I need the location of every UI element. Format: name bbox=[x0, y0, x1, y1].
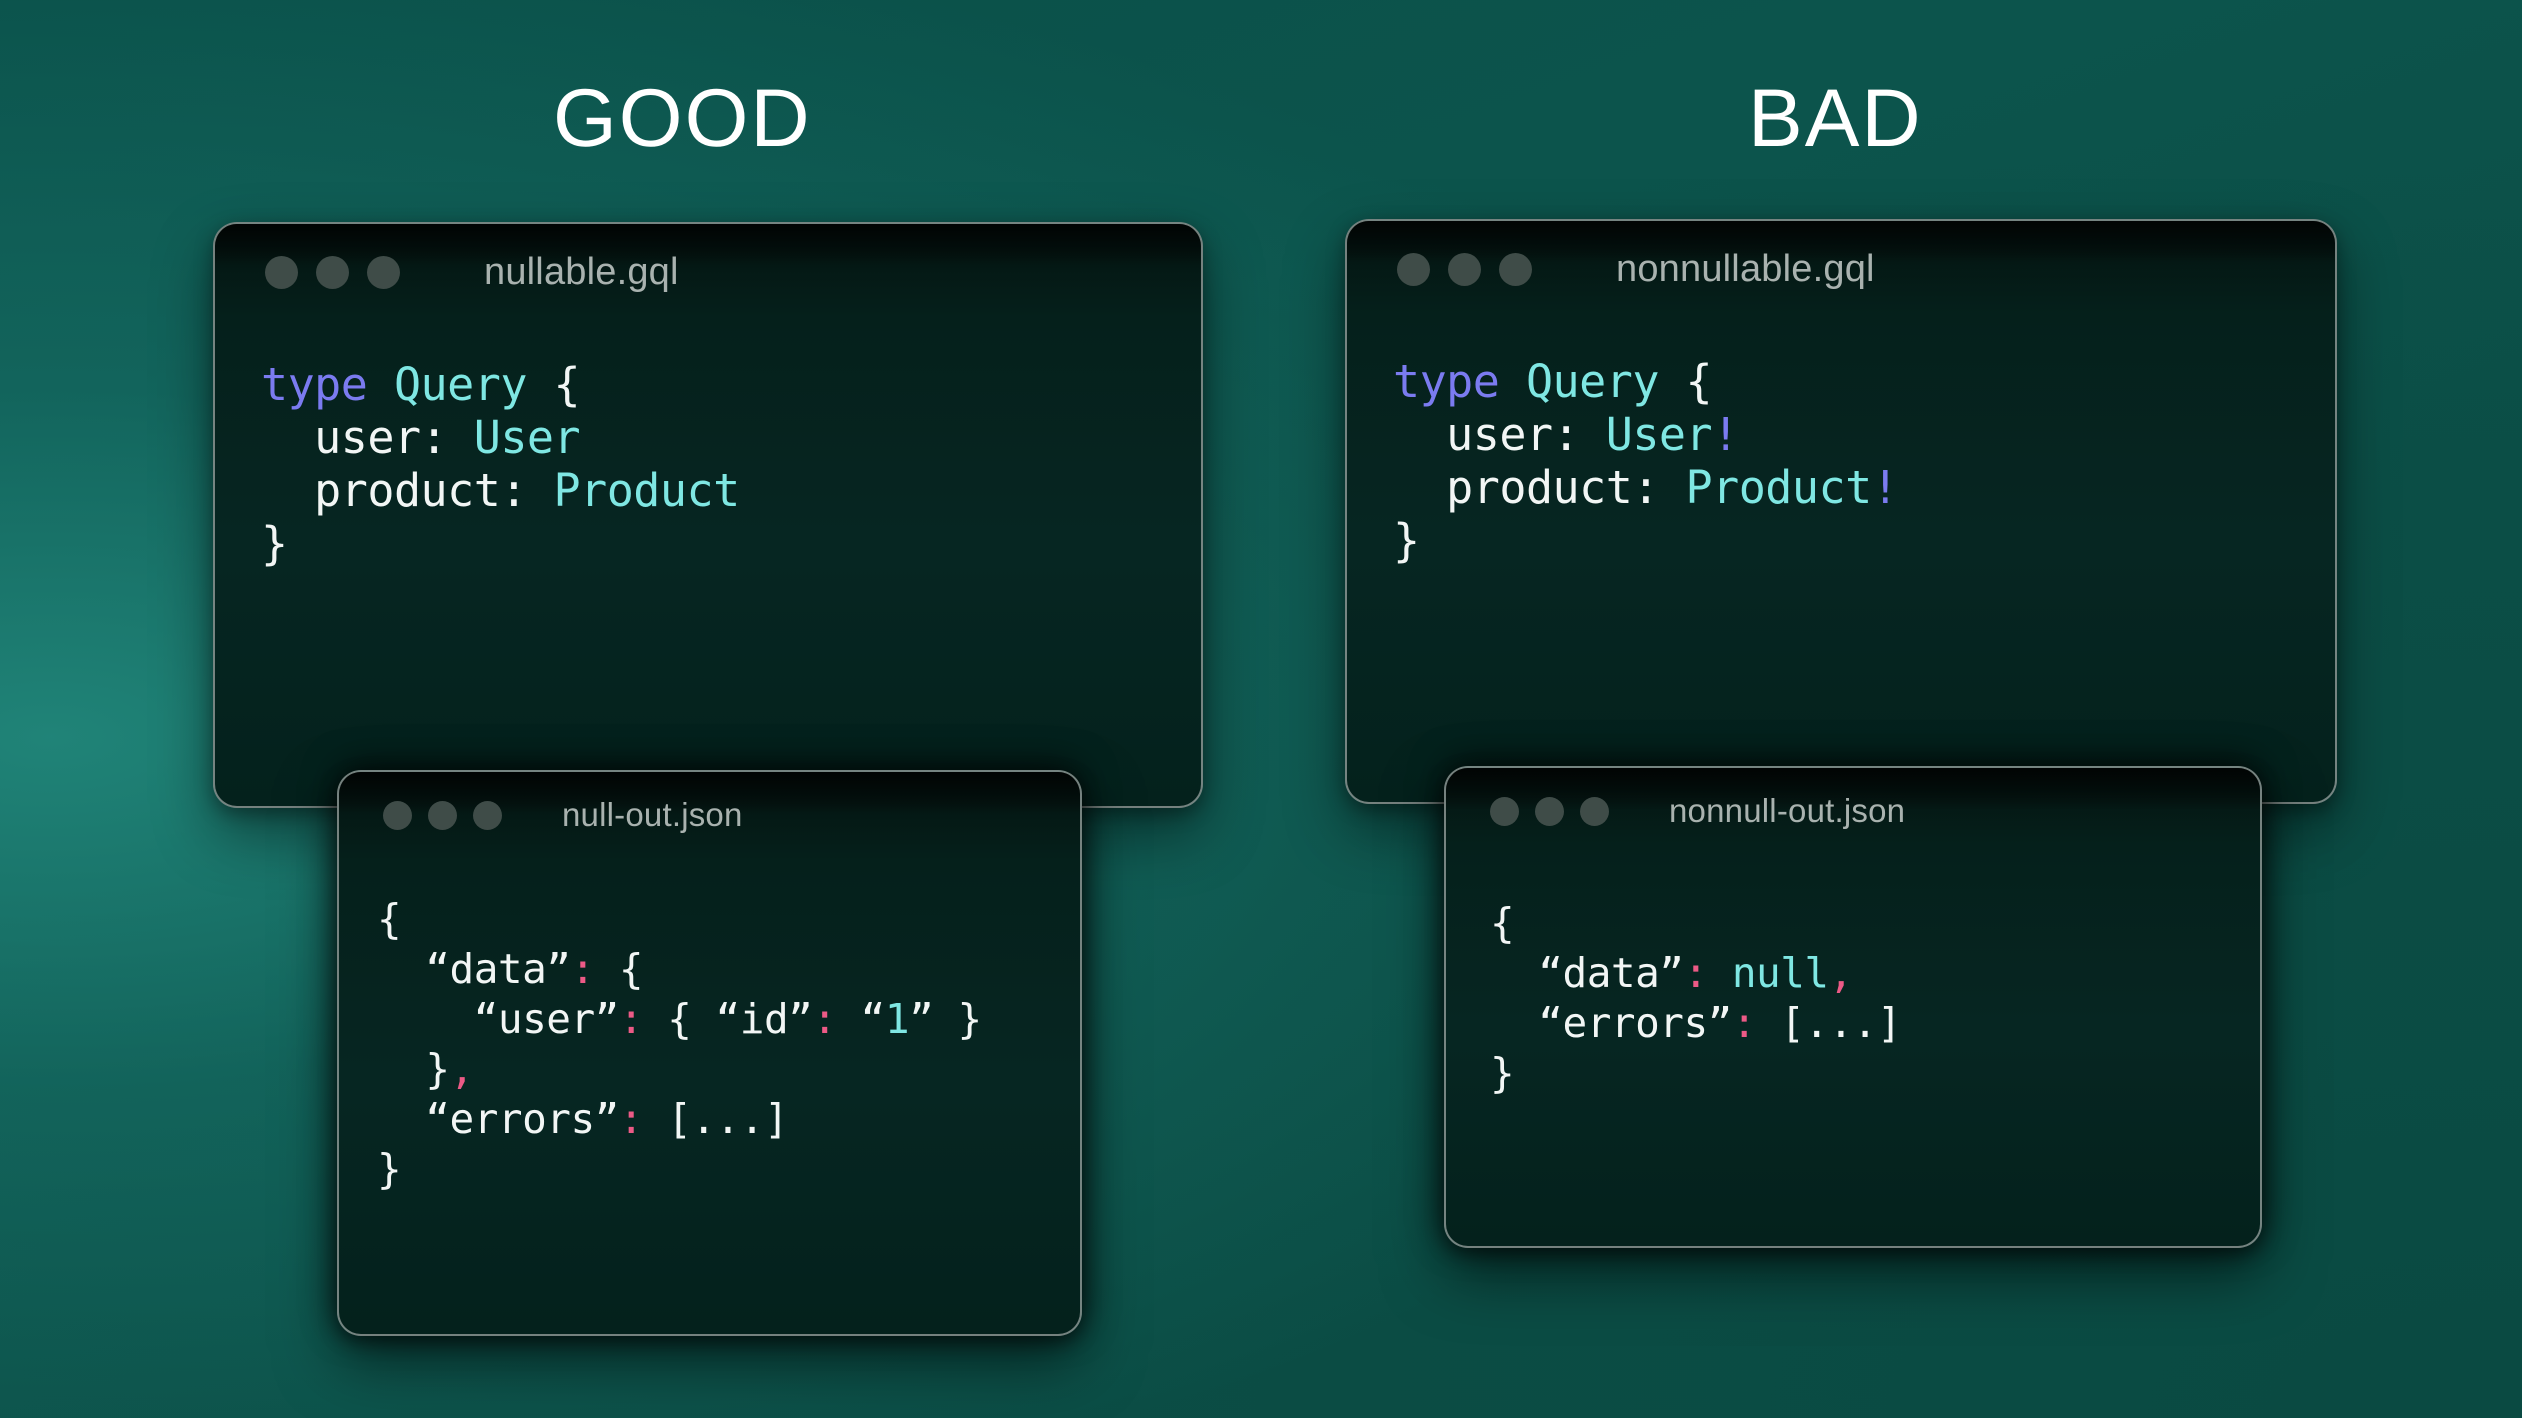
code-window-null-out-json[interactable]: null-out.json { “data”: { “user”: { “id”… bbox=[337, 770, 1082, 1336]
code-window-nullable-gql[interactable]: nullable.gql type Query { user: User pro… bbox=[213, 222, 1203, 808]
traffic-dot-maximize-icon[interactable] bbox=[367, 256, 400, 289]
window-filename: null-out.json bbox=[562, 796, 743, 834]
traffic-dot-minimize-icon[interactable] bbox=[1448, 253, 1481, 286]
code-token: } bbox=[261, 517, 288, 570]
code-token: { bbox=[1686, 355, 1713, 408]
code-token: ! bbox=[1712, 408, 1739, 461]
code-token: } bbox=[1393, 514, 1420, 567]
code-token: Query bbox=[1526, 355, 1659, 408]
code-token: , bbox=[1829, 949, 1853, 997]
code-token: : bbox=[570, 945, 594, 993]
code-token: : bbox=[1632, 461, 1685, 514]
code-line: } bbox=[377, 1144, 1080, 1194]
code-token: } bbox=[1490, 1049, 1514, 1097]
code-token bbox=[1708, 949, 1732, 997]
traffic-lights bbox=[265, 256, 400, 289]
code-token bbox=[1659, 355, 1686, 408]
traffic-dot-minimize-icon[interactable] bbox=[428, 801, 457, 830]
window-titlebar: nullable.gql bbox=[215, 224, 1201, 320]
code-token: 1 bbox=[885, 995, 909, 1043]
code-token: type bbox=[1393, 355, 1499, 408]
code-content: { “data”: null, “errors”: [...]} bbox=[1446, 854, 2260, 1098]
code-token: } bbox=[377, 1145, 401, 1193]
code-line: { bbox=[1490, 898, 2260, 948]
code-line: product: Product! bbox=[1393, 461, 2335, 514]
code-token: “user” bbox=[377, 995, 619, 1043]
code-token: product bbox=[1393, 461, 1632, 514]
code-token: Product bbox=[554, 464, 740, 517]
code-token: product bbox=[261, 464, 500, 517]
traffic-dot-close-icon[interactable] bbox=[1397, 253, 1430, 286]
traffic-lights bbox=[383, 801, 502, 830]
traffic-dot-close-icon[interactable] bbox=[383, 801, 412, 830]
code-token: , bbox=[450, 1045, 474, 1093]
code-token: : bbox=[1732, 999, 1756, 1047]
window-titlebar: nonnull-out.json bbox=[1446, 768, 2260, 854]
code-line: type Query { bbox=[1393, 355, 2335, 408]
code-token: ” } bbox=[909, 995, 982, 1043]
code-window-nonnullable-gql[interactable]: nonnullable.gql type Query { user: User!… bbox=[1345, 219, 2337, 804]
window-filename: nonnullable.gql bbox=[1616, 248, 1875, 291]
window-titlebar: null-out.json bbox=[339, 772, 1080, 858]
slide-canvas: GOOD BAD nullable.gql type Query { user:… bbox=[0, 0, 2522, 1418]
code-token: : bbox=[812, 995, 836, 1043]
code-token: “data” bbox=[377, 945, 570, 993]
code-token bbox=[367, 358, 394, 411]
traffic-lights bbox=[1490, 797, 1609, 826]
code-token: “errors” bbox=[377, 1095, 619, 1143]
code-token: ! bbox=[1872, 461, 1899, 514]
code-token: [...] bbox=[643, 1095, 788, 1143]
code-token: } bbox=[377, 1045, 450, 1093]
traffic-lights bbox=[1397, 253, 1532, 286]
code-token: : bbox=[1553, 408, 1606, 461]
code-token: user bbox=[261, 411, 421, 464]
code-token: [...] bbox=[1756, 999, 1901, 1047]
code-line: }, bbox=[377, 1044, 1080, 1094]
code-token: “ bbox=[837, 995, 885, 1043]
traffic-dot-close-icon[interactable] bbox=[265, 256, 298, 289]
code-line: } bbox=[1490, 1048, 2260, 1098]
code-token: : bbox=[619, 1095, 643, 1143]
code-content: type Query { user: User! product: Produc… bbox=[1347, 317, 2335, 567]
window-titlebar: nonnullable.gql bbox=[1347, 221, 2335, 317]
code-token: type bbox=[261, 358, 367, 411]
code-token: { bbox=[554, 358, 581, 411]
code-token: : bbox=[619, 995, 643, 1043]
code-line: user: User! bbox=[1393, 408, 2335, 461]
traffic-dot-maximize-icon[interactable] bbox=[1580, 797, 1609, 826]
code-token: null bbox=[1732, 949, 1829, 997]
window-filename: nullable.gql bbox=[484, 251, 679, 294]
code-token: User bbox=[474, 411, 580, 464]
code-line: { bbox=[377, 894, 1080, 944]
code-token: user bbox=[1393, 408, 1553, 461]
code-token: Query bbox=[394, 358, 527, 411]
code-token: “errors” bbox=[1490, 999, 1732, 1047]
code-token: “data” bbox=[1490, 949, 1683, 997]
code-token bbox=[1499, 355, 1526, 408]
code-line: type Query { bbox=[261, 358, 1201, 411]
section-title-bad: BAD bbox=[1748, 78, 1923, 160]
code-token: : bbox=[421, 411, 474, 464]
code-line: } bbox=[261, 517, 1201, 570]
code-token: { bbox=[377, 895, 401, 943]
code-line: “user”: { “id”: “1” } bbox=[377, 994, 1080, 1044]
code-token: { bbox=[643, 995, 716, 1043]
traffic-dot-minimize-icon[interactable] bbox=[1535, 797, 1564, 826]
code-window-nonnull-out-json[interactable]: nonnull-out.json { “data”: null, “errors… bbox=[1444, 766, 2262, 1248]
code-line: product: Product bbox=[261, 464, 1201, 517]
code-line: user: User bbox=[261, 411, 1201, 464]
code-line: “errors”: [...] bbox=[1490, 998, 2260, 1048]
code-line: “data”: { bbox=[377, 944, 1080, 994]
code-line: “data”: null, bbox=[1490, 948, 2260, 998]
traffic-dot-minimize-icon[interactable] bbox=[316, 256, 349, 289]
code-token: { bbox=[595, 945, 643, 993]
code-token: “id” bbox=[716, 995, 813, 1043]
code-token bbox=[527, 358, 554, 411]
code-token: { bbox=[1490, 899, 1514, 947]
code-line: } bbox=[1393, 514, 2335, 567]
code-line: “errors”: [...] bbox=[377, 1094, 1080, 1144]
section-title-good: GOOD bbox=[553, 78, 812, 160]
code-token: : bbox=[500, 464, 553, 517]
traffic-dot-maximize-icon[interactable] bbox=[473, 801, 502, 830]
code-content: { “data”: { “user”: { “id”: “1” } }, “er… bbox=[339, 858, 1080, 1194]
traffic-dot-maximize-icon[interactable] bbox=[1499, 253, 1532, 286]
code-token: : bbox=[1683, 949, 1707, 997]
traffic-dot-close-icon[interactable] bbox=[1490, 797, 1519, 826]
code-content: type Query { user: User product: Product… bbox=[215, 320, 1201, 570]
window-filename: nonnull-out.json bbox=[1669, 792, 1905, 830]
code-token: User bbox=[1606, 408, 1712, 461]
code-token: Product bbox=[1686, 461, 1872, 514]
